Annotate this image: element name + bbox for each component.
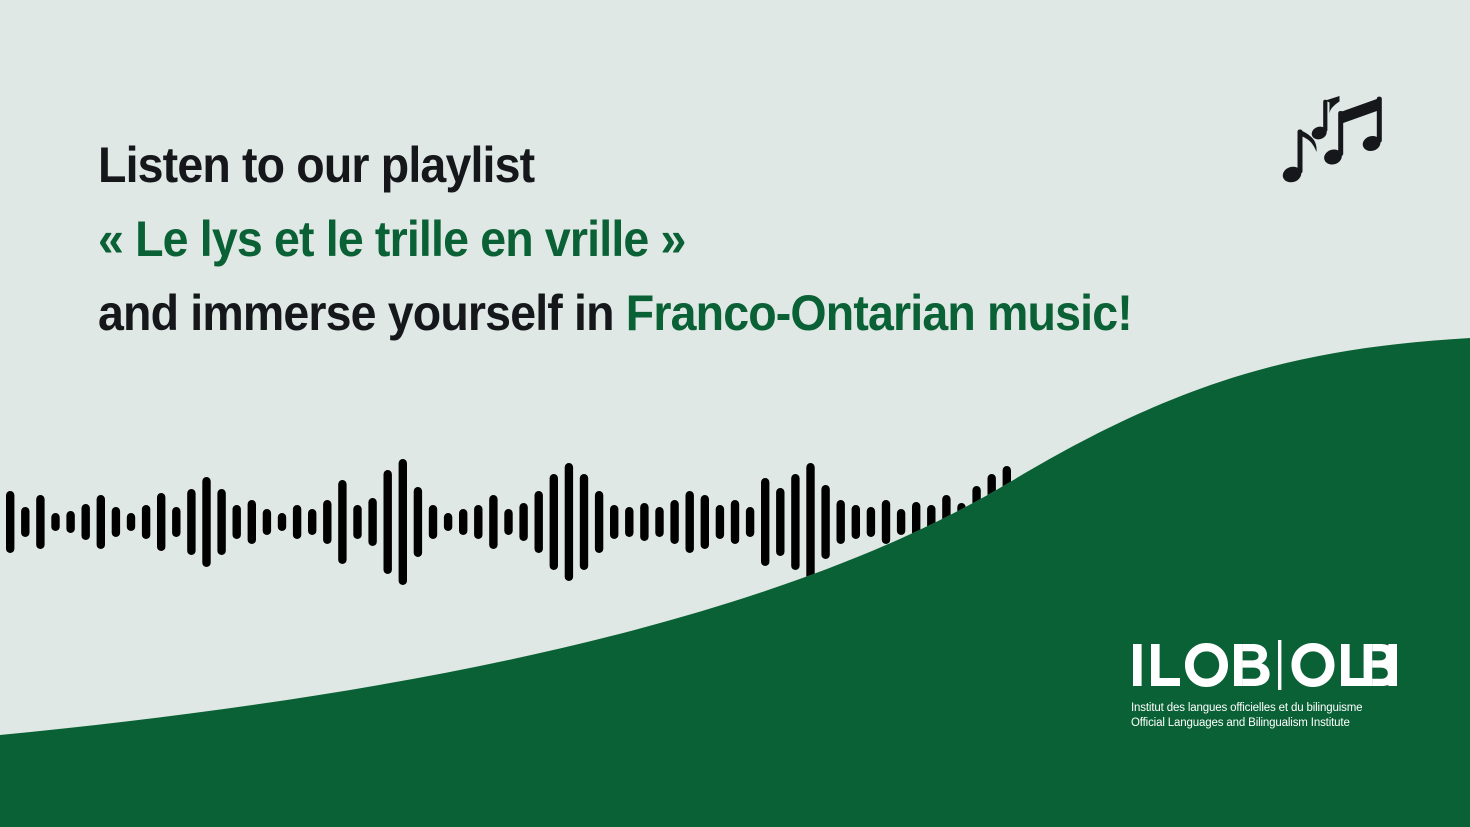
waveform-bar xyxy=(1108,500,1116,544)
waveform-bar xyxy=(1395,505,1403,539)
waveform-bar xyxy=(1003,466,1011,578)
waveform-bar xyxy=(988,474,996,570)
waveform-bar xyxy=(127,513,135,531)
waveform-bar xyxy=(1033,494,1041,550)
promo-poster: Listen to our playlist « Le lys et le tr… xyxy=(0,0,1470,827)
music-notes-icon xyxy=(1278,76,1396,194)
waveform-bar xyxy=(1093,509,1101,535)
waveform-bar xyxy=(882,500,890,544)
waveform-bar xyxy=(791,474,799,570)
waveform-bar xyxy=(112,507,120,537)
waveform-bar xyxy=(535,491,543,553)
waveform-bar xyxy=(1048,507,1056,537)
waveform-bar xyxy=(399,459,407,585)
waveform-bar xyxy=(489,495,497,549)
waveform-bar xyxy=(1018,480,1026,564)
waveform-bar xyxy=(1078,505,1086,539)
waveform-bar xyxy=(897,509,905,535)
waveform-bar xyxy=(1139,505,1147,539)
waveform-bar xyxy=(233,505,241,539)
headline-line-3: and immerse yourself in Franco-Ontarian … xyxy=(98,276,1195,350)
waveform-bar xyxy=(1184,489,1192,555)
olbi-wordmark xyxy=(1131,640,1397,690)
olbi-tagline-en: Official Languages and Bilingualism Inst… xyxy=(1131,716,1397,731)
waveform-bar xyxy=(625,507,633,537)
waveform-bar xyxy=(595,491,603,553)
waveform-bar xyxy=(429,505,437,539)
waveform-bar xyxy=(444,513,452,531)
waveform-bar xyxy=(248,500,256,544)
waveform-bar xyxy=(142,505,150,539)
waveform-bar xyxy=(1380,508,1388,536)
waveform-bar xyxy=(1320,500,1328,544)
waveform-bar xyxy=(852,505,860,539)
waveform-bar xyxy=(1244,507,1252,537)
waveform-bar xyxy=(1410,511,1418,533)
waveform-bar xyxy=(217,489,225,555)
waveform-bar xyxy=(1123,491,1131,553)
waveform-bar xyxy=(1441,510,1449,534)
headline-line-1: Listen to our playlist xyxy=(98,128,1195,202)
waveform-bar xyxy=(51,513,59,531)
waveform-bar xyxy=(731,500,739,544)
waveform-bar xyxy=(1259,500,1267,544)
waveform-bar xyxy=(912,502,920,542)
waveform-bar xyxy=(504,509,512,535)
waveform-bar xyxy=(640,503,648,541)
waveform-bar xyxy=(1199,477,1207,567)
headline-line-3-emphasis: Franco-Ontarian music! xyxy=(626,285,1132,341)
waveform-bar xyxy=(655,507,663,537)
waveform-bar xyxy=(474,505,482,539)
waveform-bar xyxy=(927,505,935,539)
waveform-bar xyxy=(36,495,44,549)
waveform-bar xyxy=(353,505,361,539)
waveform-bar xyxy=(66,511,74,533)
olbi-tagline: Institut des langues officielles et du b… xyxy=(1131,701,1397,731)
headline-line-3-prefix: and immerse yourself in xyxy=(98,285,626,341)
waveform-bar xyxy=(263,509,271,535)
waveform-bar xyxy=(293,505,301,539)
waveform-bar xyxy=(1063,499,1071,545)
waveform-bar xyxy=(1365,513,1373,531)
waveform-bar xyxy=(519,503,527,541)
waveform-bar xyxy=(957,503,965,541)
waveform-bar xyxy=(278,513,286,531)
waveform-bar xyxy=(6,491,14,553)
waveform-bar xyxy=(1214,491,1222,553)
waveform-bar xyxy=(308,509,316,535)
waveform-bar xyxy=(610,505,618,539)
waveform-bar xyxy=(580,474,588,570)
olbi-tagline-fr: Institut des langues officielles et du b… xyxy=(1131,701,1397,716)
waveform-bar xyxy=(97,495,105,549)
waveform-bar xyxy=(172,507,180,537)
olbi-logo: Institut des langues officielles et du b… xyxy=(1131,640,1397,731)
waveform-bar xyxy=(1335,507,1343,537)
waveform-bar xyxy=(21,507,29,537)
waveform-bar xyxy=(1456,513,1464,531)
waveform-bar xyxy=(686,491,694,553)
waveform-bar xyxy=(701,495,709,549)
waveform-bar xyxy=(761,478,769,566)
waveform-bar xyxy=(716,505,724,539)
waveform-bar xyxy=(1290,505,1298,539)
waveform-bar xyxy=(565,463,573,581)
waveform-bar xyxy=(972,486,980,558)
waveform-bar xyxy=(1305,493,1313,551)
waveform-bar xyxy=(187,489,195,555)
waveform-bar xyxy=(942,495,950,549)
waveform-bar xyxy=(1169,509,1177,535)
waveform-bar xyxy=(746,507,754,537)
waveform-bar xyxy=(414,487,422,557)
waveform-bar xyxy=(1154,502,1162,542)
waveform-bar xyxy=(338,480,346,564)
waveform-bar xyxy=(1425,507,1433,537)
waveform-bar xyxy=(1350,510,1358,534)
waveform-bar xyxy=(550,474,558,570)
waveform-bar xyxy=(202,477,210,567)
waveform-bar xyxy=(806,463,814,581)
waveform-bar xyxy=(384,470,392,574)
waveform-bar xyxy=(670,500,678,544)
headline-line-2: « Le lys et le trille en vrille » xyxy=(98,202,1195,276)
waveform-bar xyxy=(323,500,331,544)
waveform-bar xyxy=(1274,509,1282,535)
waveform-bar xyxy=(837,500,845,544)
waveform-bar xyxy=(776,488,784,556)
audio-waveform-icon xyxy=(0,438,1470,608)
waveform-bar xyxy=(821,485,829,559)
waveform-bar xyxy=(459,509,467,535)
waveform-bar xyxy=(1229,502,1237,542)
waveform-bar xyxy=(368,498,376,546)
headline-block: Listen to our playlist « Le lys et le tr… xyxy=(98,128,1278,350)
waveform-bar xyxy=(82,504,90,540)
waveform-bar xyxy=(157,493,165,551)
waveform-bar xyxy=(867,507,875,537)
